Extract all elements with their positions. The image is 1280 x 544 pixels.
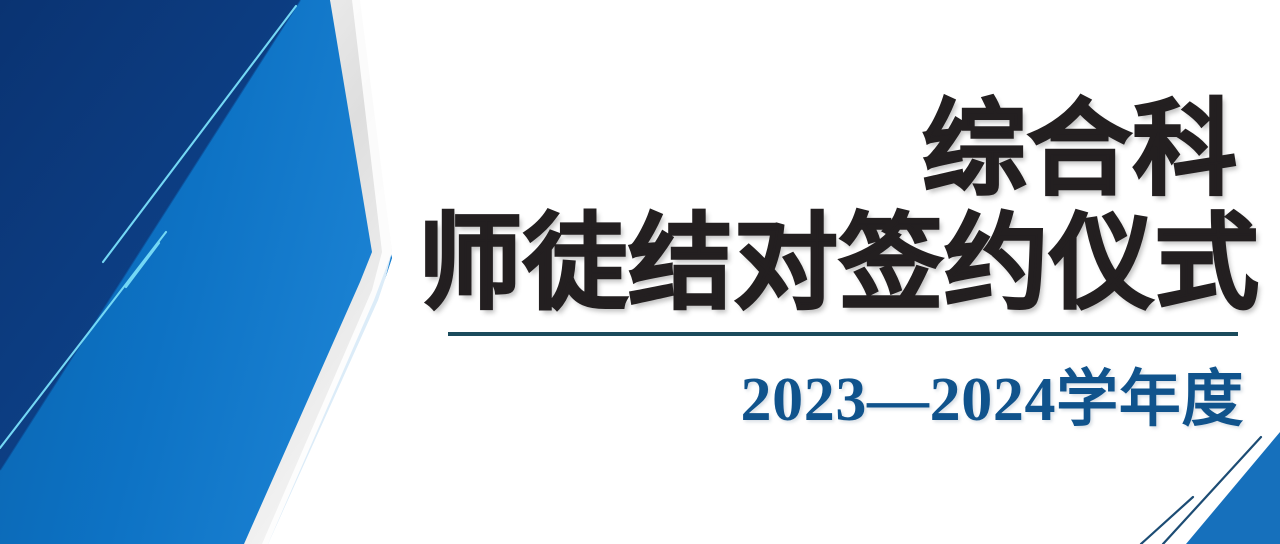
title-line-secondary: 师徒结对签约仪式	[380, 210, 1260, 318]
title-line-primary: 综合科	[380, 96, 1238, 204]
subtitle-academic-year: 2023—2024学年度	[380, 348, 1260, 438]
title-block: 综合科 师徒结对签约仪式 2023—2024学年度	[380, 96, 1260, 438]
title-divider-rule	[448, 332, 1238, 336]
banner-canvas: 综合科 师徒结对签约仪式 2023—2024学年度	[0, 0, 1280, 544]
